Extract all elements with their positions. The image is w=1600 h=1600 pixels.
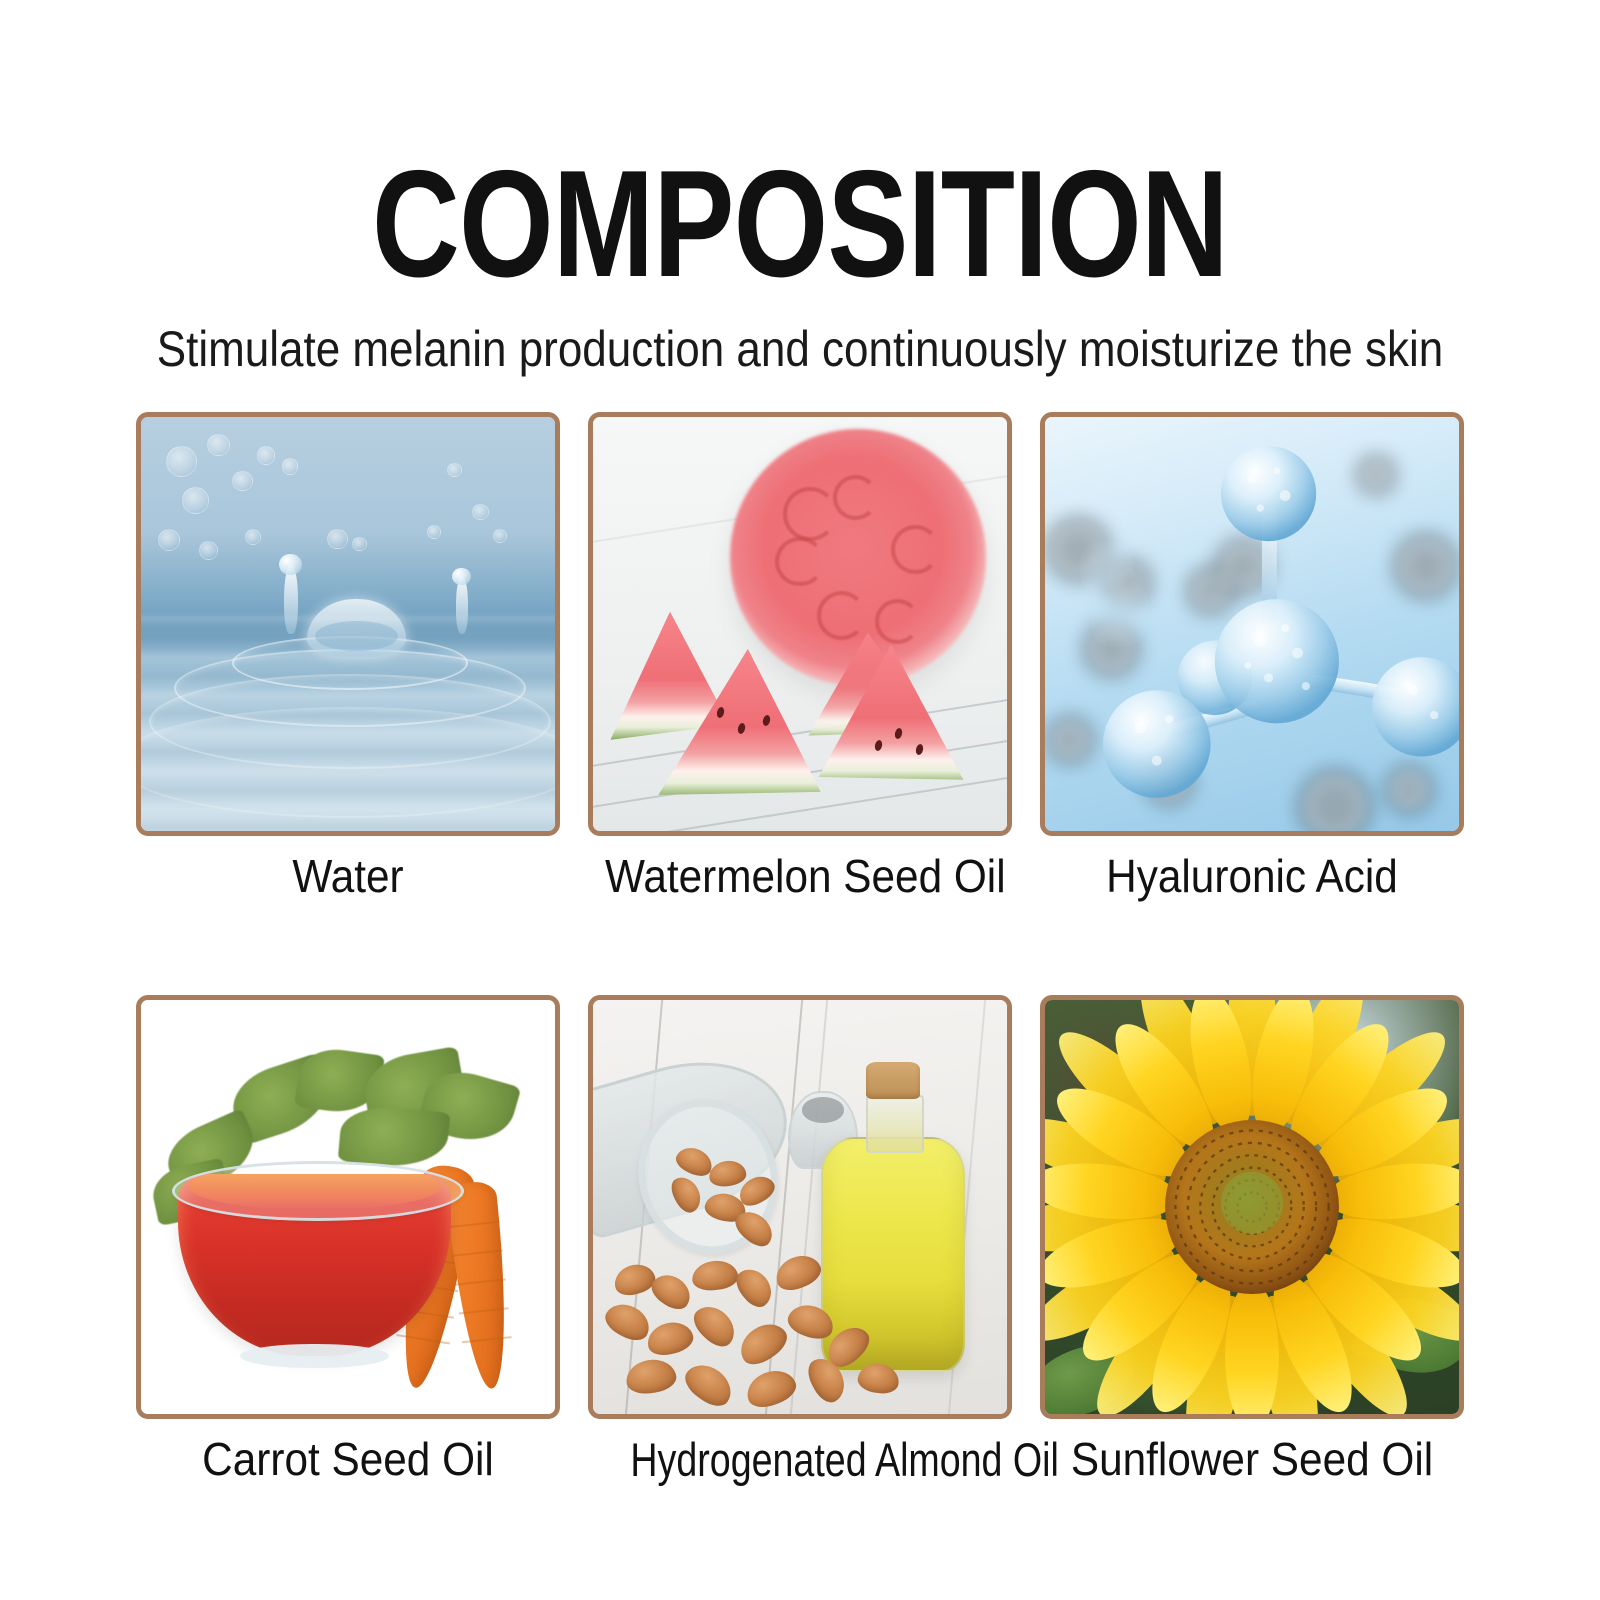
ingredient-card-water[interactable]: Water: [136, 412, 560, 903]
ingredient-label: Watermelon Seed Oil: [605, 850, 995, 903]
card-frame-hyaluronic: [1040, 412, 1464, 836]
ingredient-card-hydrogenated-almond-oil[interactable]: Hydrogenated Almond Oil: [588, 995, 1012, 1487]
watermelon-slices-photo: [593, 417, 1007, 831]
page-subtitle: Stimulate melanin production and continu…: [96, 300, 1504, 377]
ingredient-card-carrot-seed-oil[interactable]: Carrot Seed Oil: [136, 995, 560, 1487]
ingredient-card-sunflower-seed-oil[interactable]: Sunflower Seed Oil: [1040, 995, 1464, 1487]
ingredient-label: Hydrogenated Almond Oil: [630, 1433, 969, 1487]
almond-oil-bottle-photo: [593, 1000, 1007, 1414]
card-frame-carrot: [136, 995, 560, 1419]
ingredient-card-watermelon-seed-oil[interactable]: Watermelon Seed Oil: [588, 412, 1012, 903]
molecule-diagram: [1045, 417, 1459, 831]
header: COMPOSITION Stimulate melanin production…: [0, 0, 1600, 377]
card-frame-watermelon: [588, 412, 1012, 836]
ingredient-card-hyaluronic-acid[interactable]: Hyaluronic Acid: [1040, 412, 1464, 903]
card-frame-sunflower: [1040, 995, 1464, 1419]
sunflower-bloom: [1045, 1000, 1459, 1414]
carrot-oil-bowl-photo: [141, 1000, 555, 1414]
card-frame-almond: [588, 995, 1012, 1419]
molecule-spheres-photo: [1045, 417, 1459, 831]
sunflower-photo: [1045, 1000, 1459, 1414]
ingredient-label: Carrot Seed Oil: [153, 1433, 543, 1486]
ingredient-label: Sunflower Seed Oil: [1057, 1433, 1447, 1486]
page-title: COMPOSITION: [160, 0, 1440, 300]
ingredient-grid: Water: [136, 412, 1464, 1487]
ingredient-label: Water: [153, 850, 543, 903]
ingredient-label: Hyaluronic Acid: [1057, 850, 1447, 903]
composition-infographic: COMPOSITION Stimulate melanin production…: [0, 0, 1600, 1600]
card-frame-water: [136, 412, 560, 836]
water-splash-photo: [141, 417, 555, 831]
